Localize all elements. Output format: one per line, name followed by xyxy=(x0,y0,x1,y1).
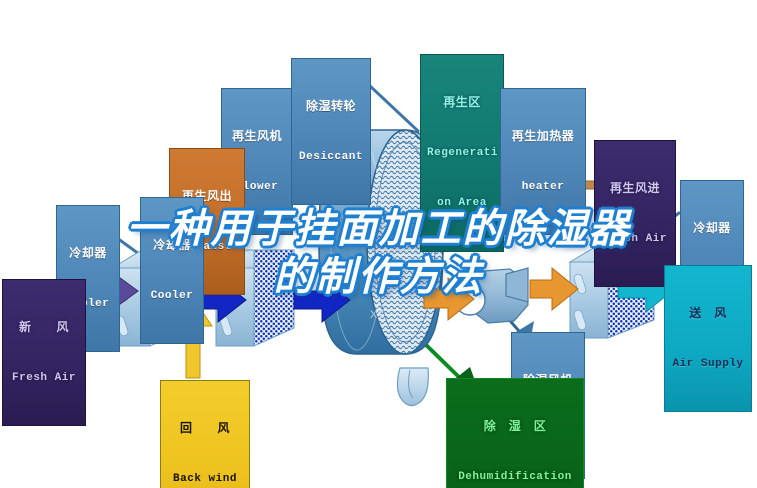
label-air-supply[interactable]: 送 风 Air Supply xyxy=(664,265,752,412)
label-en-text-line1: Regenerati xyxy=(427,147,497,160)
drain-pan-body xyxy=(397,368,428,406)
label-desiccant-rotor[interactable]: 除湿转轮 Desiccant xyxy=(291,58,371,205)
leader-desiccant-rotor xyxy=(370,86,418,131)
label-cn-text: 再生风进 xyxy=(601,181,669,195)
label-cn-text: 再生加热器 xyxy=(507,129,579,143)
tail-dehumidify-blower xyxy=(516,321,534,332)
label-en-text: Fresh Air xyxy=(601,233,669,246)
label-fresh-air-inlet[interactable]: 新 风 Fresh Air xyxy=(2,279,86,426)
cooler-coil-face xyxy=(254,250,294,346)
label-dehumidification-district[interactable]: 除 湿 区 Dehumidification District xyxy=(446,378,584,488)
label-cooler-left-2[interactable]: 冷却器 Cooler xyxy=(140,197,204,344)
label-cn-text: 再生风机 xyxy=(228,129,286,143)
label-cn-text: 冷却器 xyxy=(147,238,197,252)
label-en-text: Air Supply xyxy=(671,358,745,371)
label-en-text: heater xyxy=(507,181,579,194)
label-regeneration-heater[interactable]: 再生加热器 heater xyxy=(500,88,586,235)
label-cn-text: 除湿转轮 xyxy=(298,99,364,113)
label-cn-text: 冷却器 xyxy=(687,221,737,235)
drain-pan xyxy=(397,368,428,406)
label-en-text: Fresh Air xyxy=(9,372,79,385)
label-cn-text: 回 风 xyxy=(167,421,243,435)
label-en-text: Back wind xyxy=(167,473,243,486)
label-en-text: Desiccant xyxy=(298,151,364,164)
fan-outlet-duct xyxy=(506,268,528,302)
label-cn-text: 送 风 xyxy=(671,306,745,320)
watermark-text: X1 xyxy=(370,309,383,321)
dehumidifier-schematic-diagram: X1 xyxy=(0,0,757,488)
label-cn-text: 冷却器 xyxy=(63,246,113,260)
label-back-wind[interactable]: 回 风 Back wind xyxy=(160,380,250,488)
label-cn-text: 再生区 xyxy=(427,95,497,109)
tail-dehumidification-district xyxy=(456,367,474,378)
label-cn-text: 除 湿 区 xyxy=(453,419,577,433)
label-en-text: Cooler xyxy=(147,290,197,303)
label-cn-text: 新 风 xyxy=(9,320,79,334)
label-en-text-line1: Dehumidification xyxy=(453,471,577,484)
label-en-text-line2: on Area xyxy=(427,197,497,210)
label-regeneration-area[interactable]: 再生区 Regenerati on Area xyxy=(420,54,504,252)
